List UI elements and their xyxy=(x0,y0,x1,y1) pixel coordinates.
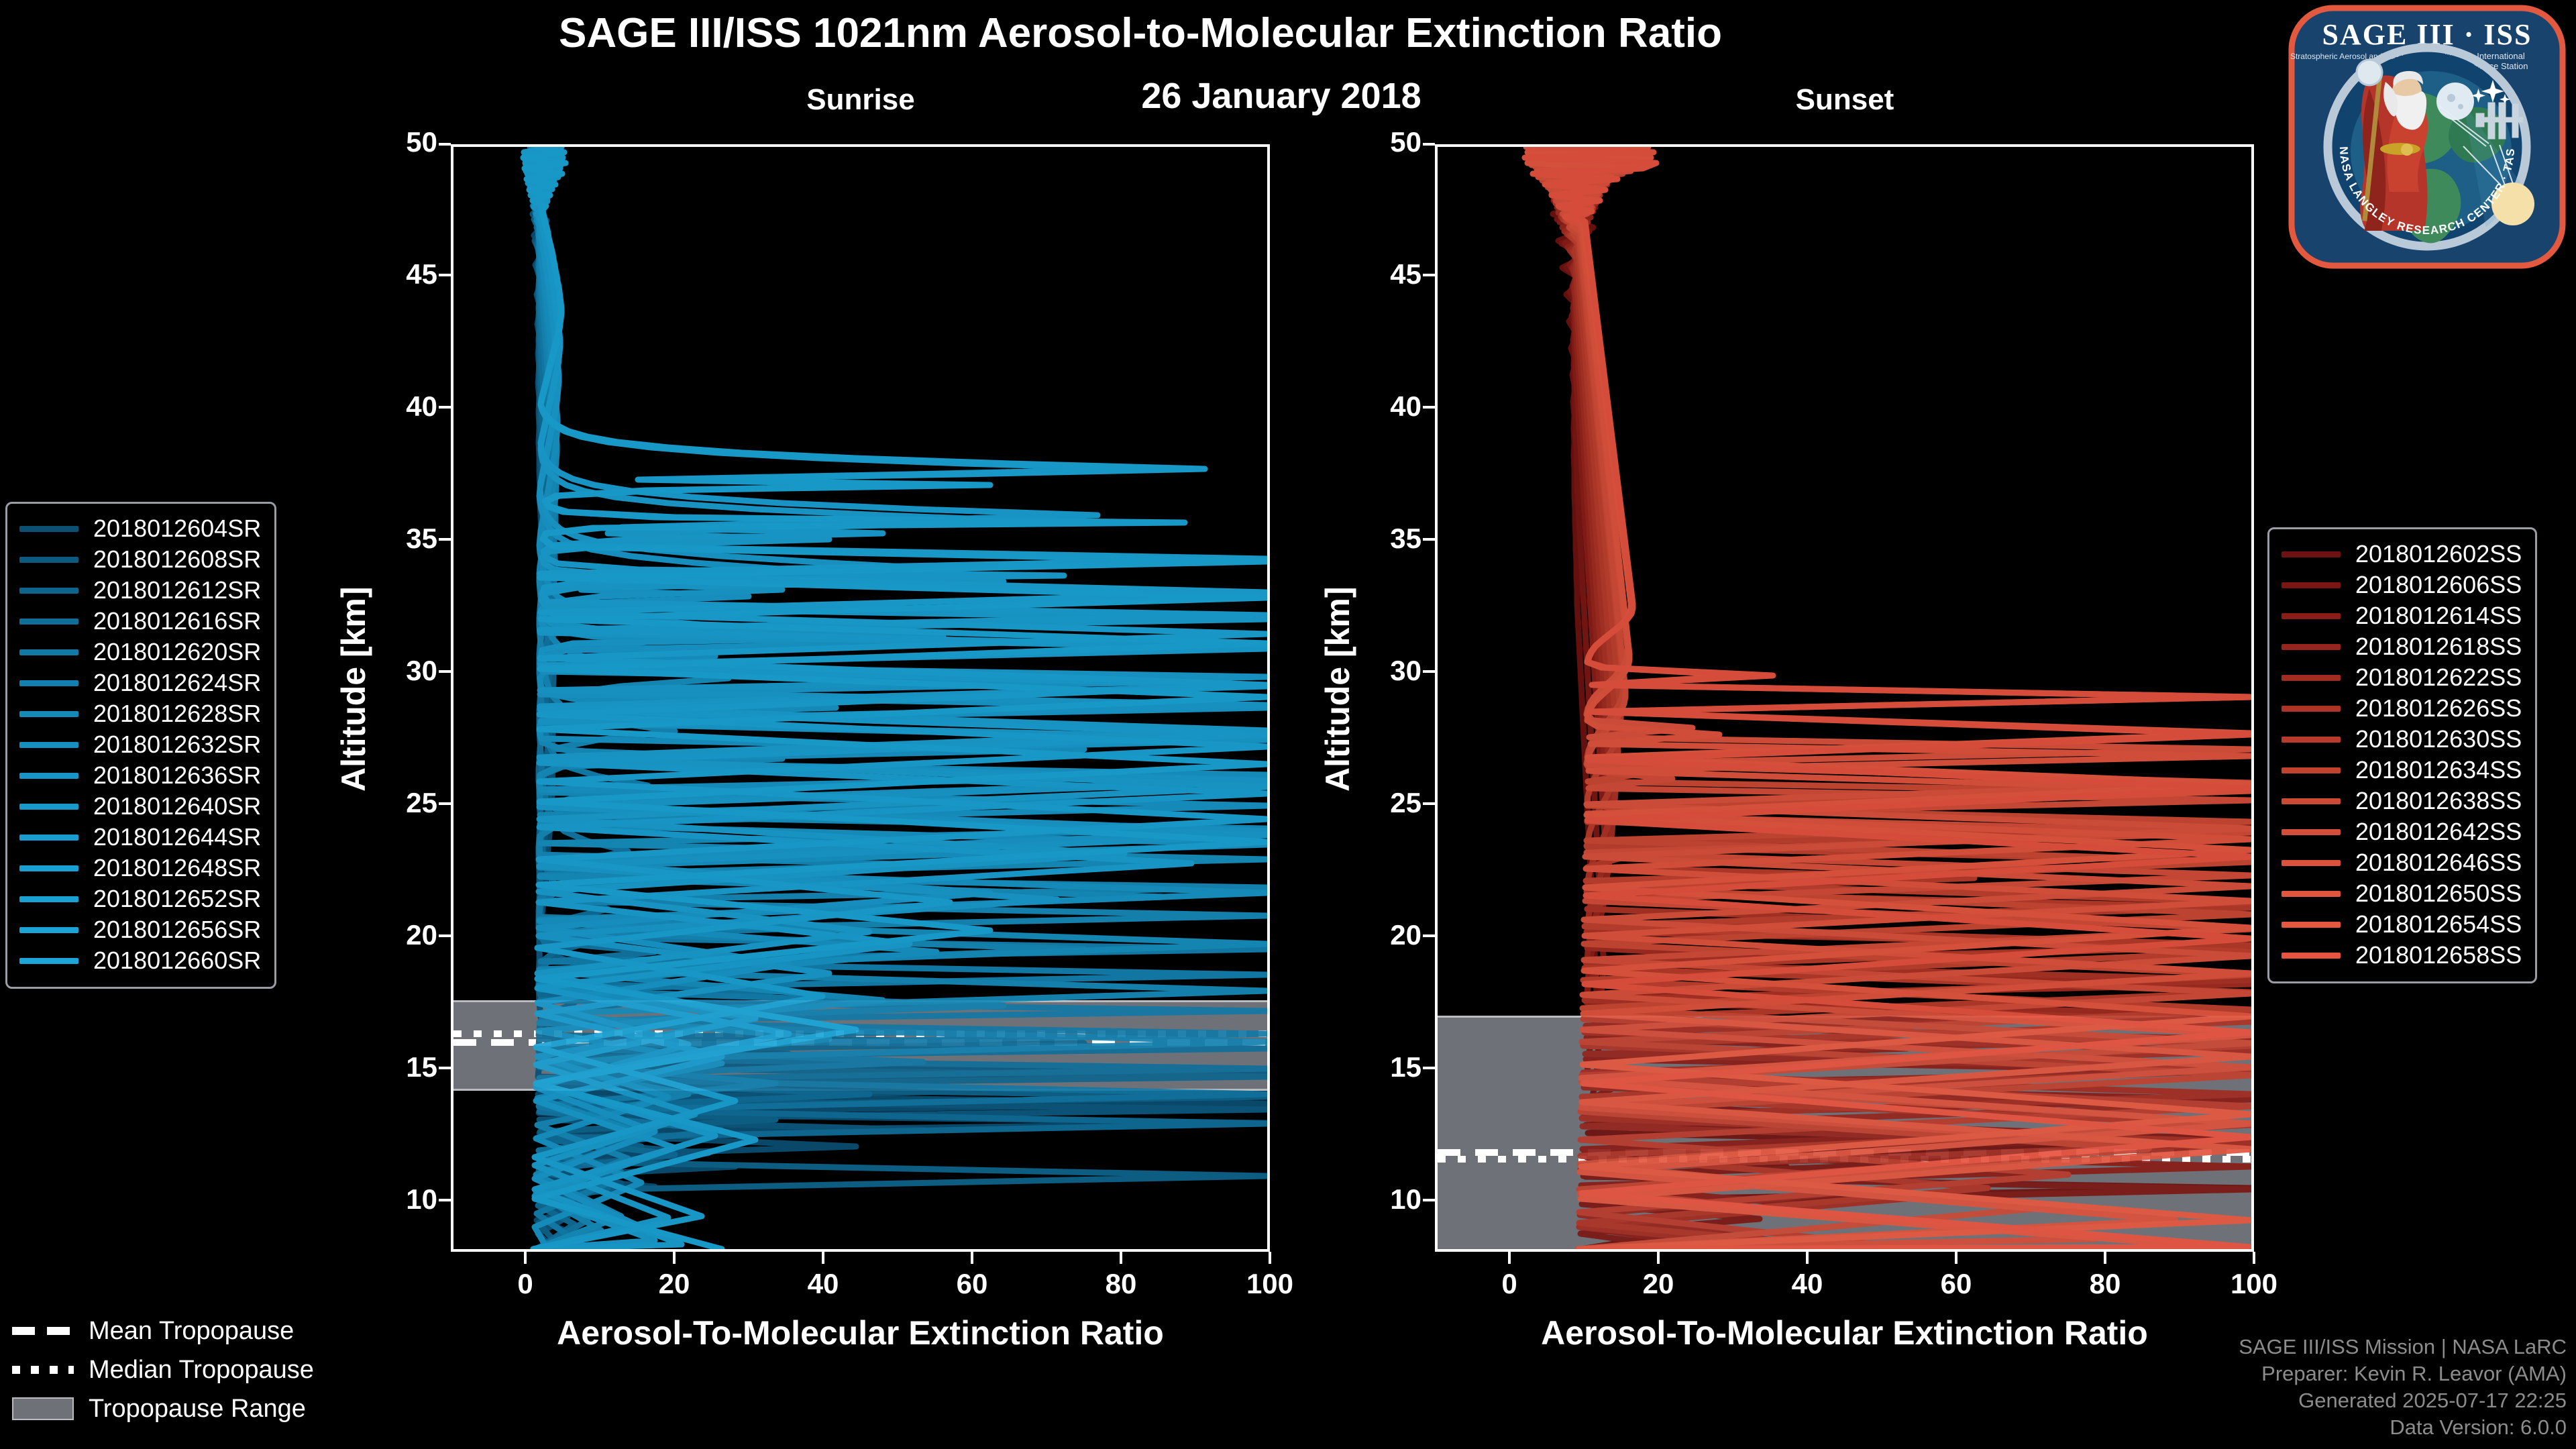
sunset-legend-row[interactable]: 2018012650SS xyxy=(2282,878,2522,909)
line-swatch-icon xyxy=(2282,953,2341,959)
sunset-plot-area xyxy=(1435,144,2254,1252)
legend-row-median-tropopause: Median Tropopause xyxy=(12,1350,314,1389)
line-swatch-icon xyxy=(2282,860,2341,866)
sunset-legend-row[interactable]: 2018012646SS xyxy=(2282,847,2522,878)
line-swatch-icon xyxy=(19,742,78,748)
sunrise-legend-label: 2018012632SR xyxy=(93,731,261,759)
sunset-xtick-80: 80 xyxy=(2051,1268,2159,1300)
line-swatch-icon xyxy=(2282,829,2341,835)
sunrise-legend-row[interactable]: 2018012640SR xyxy=(19,791,261,822)
sunrise-ytickmark-10 xyxy=(439,1199,451,1201)
sunset-ytick-50: 50 xyxy=(1328,126,1421,158)
sunrise-xtick-100: 100 xyxy=(1216,1268,1324,1300)
line-swatch-icon xyxy=(19,680,78,686)
sunrise-legend-row[interactable]: 2018012632SR xyxy=(19,729,261,760)
sunset-legend-row[interactable]: 2018012622SS xyxy=(2282,662,2522,693)
sunrise-legend-label: 2018012656SR xyxy=(93,916,261,944)
sunset-legend-label: 2018012622SS xyxy=(2355,663,2522,692)
sunset-legend-label: 2018012650SS xyxy=(2355,879,2522,908)
sunset-xtick-40: 40 xyxy=(1754,1268,1861,1300)
sunrise-legend-row[interactable]: 2018012624SR xyxy=(19,667,261,698)
sunset-series-lines xyxy=(1438,147,2251,1249)
sunset-xtick-0: 0 xyxy=(1456,1268,1563,1300)
sunset-ytickmark-20 xyxy=(1423,934,1435,937)
line-swatch-icon xyxy=(19,804,78,810)
sunset-ytickmark-15 xyxy=(1423,1067,1435,1069)
sunrise-xtickmark-100 xyxy=(1269,1252,1271,1264)
sunrise-yaxis-title: Altitude [km] xyxy=(334,586,373,792)
sunset-xtickmark-80 xyxy=(2104,1252,2106,1264)
line-swatch-icon xyxy=(19,958,78,964)
sunrise-ytickmark-30 xyxy=(439,670,451,673)
sunrise-xtick-20: 20 xyxy=(621,1268,728,1300)
sunset-ytick-20: 20 xyxy=(1328,919,1421,951)
line-swatch-icon xyxy=(19,896,78,902)
line-swatch-icon xyxy=(2282,675,2341,681)
line-swatch-icon xyxy=(19,588,78,594)
sunrise-legend-label: 2018012624SR xyxy=(93,669,261,697)
sunset-ytickmark-10 xyxy=(1423,1199,1435,1201)
sunset-ytick-35: 35 xyxy=(1328,523,1421,555)
legend-label-tropopause-range: Tropopause Range xyxy=(89,1395,306,1424)
sunset-legend-label: 2018012626SS xyxy=(2355,694,2522,722)
line-swatch-icon xyxy=(2282,582,2341,588)
sunrise-ytick-25: 25 xyxy=(343,787,437,819)
line-swatch-icon xyxy=(2282,798,2341,804)
sunset-plot-inner xyxy=(1438,147,2251,1249)
sunset-xaxis-title: Aerosol-To-Molecular Extinction Ratio xyxy=(1435,1313,2254,1352)
sunset-xtick-20: 20 xyxy=(1605,1268,1712,1300)
sunset-xtickmark-20 xyxy=(1657,1252,1660,1264)
sunset-ytickmark-50 xyxy=(1423,143,1435,146)
sunrise-legend-row[interactable]: 2018012648SR xyxy=(19,853,261,883)
dotted-line-icon xyxy=(12,1366,74,1374)
line-swatch-icon xyxy=(19,835,78,841)
sunrise-xtick-80: 80 xyxy=(1067,1268,1175,1300)
sunrise-xaxis-title: Aerosol-To-Molecular Extinction Ratio xyxy=(451,1313,1270,1352)
line-swatch-icon xyxy=(19,711,78,717)
sunset-ytickmark-30 xyxy=(1423,670,1435,673)
sunset-legend-label: 2018012642SS xyxy=(2355,818,2522,846)
date-subtitle: 26 January 2018 xyxy=(979,75,1583,117)
line-swatch-icon xyxy=(2282,706,2341,712)
sunrise-legend-label: 2018012648SR xyxy=(93,854,261,882)
sunset-legend-label: 2018012646SS xyxy=(2355,849,2522,877)
sunrise-legend-label: 2018012652SR xyxy=(93,885,261,913)
sunset-xtick-60: 60 xyxy=(1902,1268,2010,1300)
legend-row-mean-tropopause: Mean Tropopause xyxy=(12,1311,314,1350)
sunrise-xtick-60: 60 xyxy=(918,1268,1026,1300)
sunset-xtick-100: 100 xyxy=(2200,1268,2308,1300)
footer-line-data-version: Data Version: 6.0.0 xyxy=(2239,1414,2567,1441)
sunrise-ytickmark-50 xyxy=(439,143,451,146)
sunrise-legend-row[interactable]: 2018012628SR xyxy=(19,698,261,729)
sunrise-ytick-10: 10 xyxy=(343,1183,437,1216)
sunset-legend-label: 2018012606SS xyxy=(2355,571,2522,599)
sunrise-plot-area xyxy=(451,144,1270,1252)
sunrise-ytickmark-40 xyxy=(439,406,451,409)
dashed-line-icon xyxy=(12,1327,74,1335)
sunrise-legend-label: 2018012620SR xyxy=(93,638,261,666)
sunrise-ytickmark-15 xyxy=(439,1067,451,1069)
sunset-xtickmark-0 xyxy=(1508,1252,1511,1264)
line-swatch-icon xyxy=(2282,891,2341,897)
sunrise-ytickmark-45 xyxy=(439,274,451,276)
sunrise-legend-label: 2018012612SR xyxy=(93,576,261,604)
line-swatch-icon xyxy=(2282,922,2341,928)
sunset-legend-row[interactable]: 2018012658SS xyxy=(2282,940,2522,971)
sunset-legend-label: 2018012614SS xyxy=(2355,602,2522,630)
sunrise-legend-label: 2018012660SR xyxy=(93,947,261,975)
line-swatch-icon xyxy=(19,526,78,532)
sunrise-legend-row[interactable]: 2018012604SR xyxy=(19,513,261,544)
sunset-ytick-10: 10 xyxy=(1328,1183,1421,1216)
sunrise-xtickmark-0 xyxy=(524,1252,527,1264)
footer-line-generated: Generated 2025-07-17 22:25 xyxy=(2239,1387,2567,1414)
sunrise-plot-inner xyxy=(453,147,1267,1249)
band-swatch-icon xyxy=(12,1397,74,1420)
sunset-ytick-15: 15 xyxy=(1328,1051,1421,1083)
sunrise-legend-row[interactable]: 2018012644SR xyxy=(19,822,261,853)
sunset-legend-label: 2018012658SS xyxy=(2355,941,2522,969)
sunrise-legend-row[interactable]: 2018012656SR xyxy=(19,914,261,945)
sunset-legend-row[interactable]: 2018012634SS xyxy=(2282,755,2522,786)
sunrise-ytick-50: 50 xyxy=(343,126,437,158)
sunrise-panel-subtitle: Sunrise xyxy=(659,83,1062,117)
line-swatch-icon xyxy=(19,927,78,933)
legend-row-tropopause-range: Tropopause Range xyxy=(12,1389,314,1428)
line-swatch-icon xyxy=(2282,767,2341,773)
sunrise-ytick-15: 15 xyxy=(343,1051,437,1083)
sunset-ytickmark-35 xyxy=(1423,538,1435,541)
page-title: SAGE III/ISS 1021nm Aerosol-to-Molecular… xyxy=(0,9,2281,57)
sunset-legend-row[interactable]: 2018012606SS xyxy=(2282,570,2522,600)
sunset-xtickmark-60 xyxy=(1955,1252,1957,1264)
tropopause-legend: Mean Tropopause Median Tropopause Tropop… xyxy=(12,1311,314,1428)
sunset-xtickmark-100 xyxy=(2253,1252,2255,1264)
sunrise-legend[interactable]: 2018012604SR2018012608SR2018012612SR2018… xyxy=(5,502,276,989)
sunrise-legend-row[interactable]: 2018012616SR xyxy=(19,606,261,637)
sunrise-legend-label: 2018012628SR xyxy=(93,700,261,728)
sunrise-ytick-40: 40 xyxy=(343,390,437,423)
sunset-legend[interactable]: 2018012602SS2018012606SS2018012614SS2018… xyxy=(2267,527,2537,983)
sunset-legend-row[interactable]: 2018012626SS xyxy=(2282,693,2522,724)
line-swatch-icon xyxy=(2282,644,2341,650)
sunrise-xtick-0: 0 xyxy=(472,1268,579,1300)
sage-iii-iss-mission-logo: SAGE III · ISS Stratospheric Aerosol and… xyxy=(2288,3,2567,271)
sunrise-xtickmark-20 xyxy=(673,1252,676,1264)
sunset-legend-row[interactable]: 2018012602SS xyxy=(2282,539,2522,570)
sunset-legend-row[interactable]: 2018012618SS xyxy=(2282,631,2522,662)
sunrise-legend-label: 2018012644SR xyxy=(93,823,261,851)
svg-text:International: International xyxy=(2477,51,2525,61)
line-swatch-icon xyxy=(2282,551,2341,557)
sunrise-legend-label: 2018012604SR xyxy=(93,515,261,543)
sunset-ytick-40: 40 xyxy=(1328,390,1421,423)
sunset-legend-label: 2018012654SS xyxy=(2355,910,2522,938)
sunset-legend-label: 2018012634SS xyxy=(2355,756,2522,784)
sunset-legend-label: 2018012602SS xyxy=(2355,540,2522,568)
footer-credits: SAGE III/ISS Mission | NASA LaRC Prepare… xyxy=(2239,1334,2567,1441)
footer-line-mission: SAGE III/ISS Mission | NASA LaRC xyxy=(2239,1334,2567,1360)
sunset-ytick-45: 45 xyxy=(1328,258,1421,290)
line-swatch-icon xyxy=(19,619,78,625)
sunrise-series-lines xyxy=(453,147,1267,1249)
sunrise-ytick-45: 45 xyxy=(343,258,437,290)
sunrise-legend-row[interactable]: 2018012636SR xyxy=(19,760,261,791)
sunrise-legend-label: 2018012636SR xyxy=(93,761,261,790)
line-swatch-icon xyxy=(19,649,78,655)
sunset-legend-label: 2018012618SS xyxy=(2355,633,2522,661)
sunrise-legend-row[interactable]: 2018012660SR xyxy=(19,945,261,976)
sunset-ytickmark-25 xyxy=(1423,802,1435,805)
sunset-ytickmark-45 xyxy=(1423,274,1435,276)
sunrise-legend-row[interactable]: 2018012652SR xyxy=(19,883,261,914)
sunset-legend-row[interactable]: 2018012642SS xyxy=(2282,816,2522,847)
sunset-ytickmark-40 xyxy=(1423,406,1435,409)
sunrise-ytick-20: 20 xyxy=(343,919,437,951)
sunrise-ytickmark-25 xyxy=(439,802,451,805)
footer-line-preparer: Preparer: Kevin R. Leavor (AMA) xyxy=(2239,1360,2567,1387)
sunrise-legend-row[interactable]: 2018012608SR xyxy=(19,544,261,575)
sunrise-xtickmark-40 xyxy=(822,1252,824,1264)
sunrise-legend-row[interactable]: 2018012620SR xyxy=(19,637,261,667)
sunrise-ytick-35: 35 xyxy=(343,523,437,555)
sunset-legend-label: 2018012638SS xyxy=(2355,787,2522,815)
sunset-ytick-25: 25 xyxy=(1328,787,1421,819)
line-swatch-icon xyxy=(2282,737,2341,743)
sunrise-legend-label: 2018012616SR xyxy=(93,607,261,635)
sunrise-legend-row[interactable]: 2018012612SR xyxy=(19,575,261,606)
sunset-legend-row[interactable]: 2018012654SS xyxy=(2282,909,2522,940)
sunset-legend-row[interactable]: 2018012630SS xyxy=(2282,724,2522,755)
sunset-yaxis-title: Altitude [km] xyxy=(1318,586,1357,792)
line-swatch-icon xyxy=(19,773,78,779)
sunset-panel-subtitle: Sunset xyxy=(1644,83,2046,117)
sunset-legend-label: 2018012630SS xyxy=(2355,725,2522,753)
line-swatch-icon xyxy=(19,557,78,563)
sunrise-ytickmark-35 xyxy=(439,538,451,541)
sunrise-legend-label: 2018012640SR xyxy=(93,792,261,820)
sunrise-legend-label: 2018012608SR xyxy=(93,545,261,574)
legend-label-mean-tropopause: Mean Tropopause xyxy=(89,1317,294,1346)
sunset-legend-row[interactable]: 2018012614SS xyxy=(2282,600,2522,631)
sunrise-ytickmark-20 xyxy=(439,934,451,937)
sunrise-xtickmark-60 xyxy=(971,1252,973,1264)
sunset-xtickmark-40 xyxy=(1806,1252,1809,1264)
line-swatch-icon xyxy=(19,865,78,871)
sunrise-xtick-40: 40 xyxy=(769,1268,877,1300)
line-swatch-icon xyxy=(2282,613,2341,619)
sunset-legend-row[interactable]: 2018012638SS xyxy=(2282,786,2522,816)
sunrise-xtickmark-80 xyxy=(1120,1252,1122,1264)
legend-label-median-tropopause: Median Tropopause xyxy=(89,1356,314,1385)
